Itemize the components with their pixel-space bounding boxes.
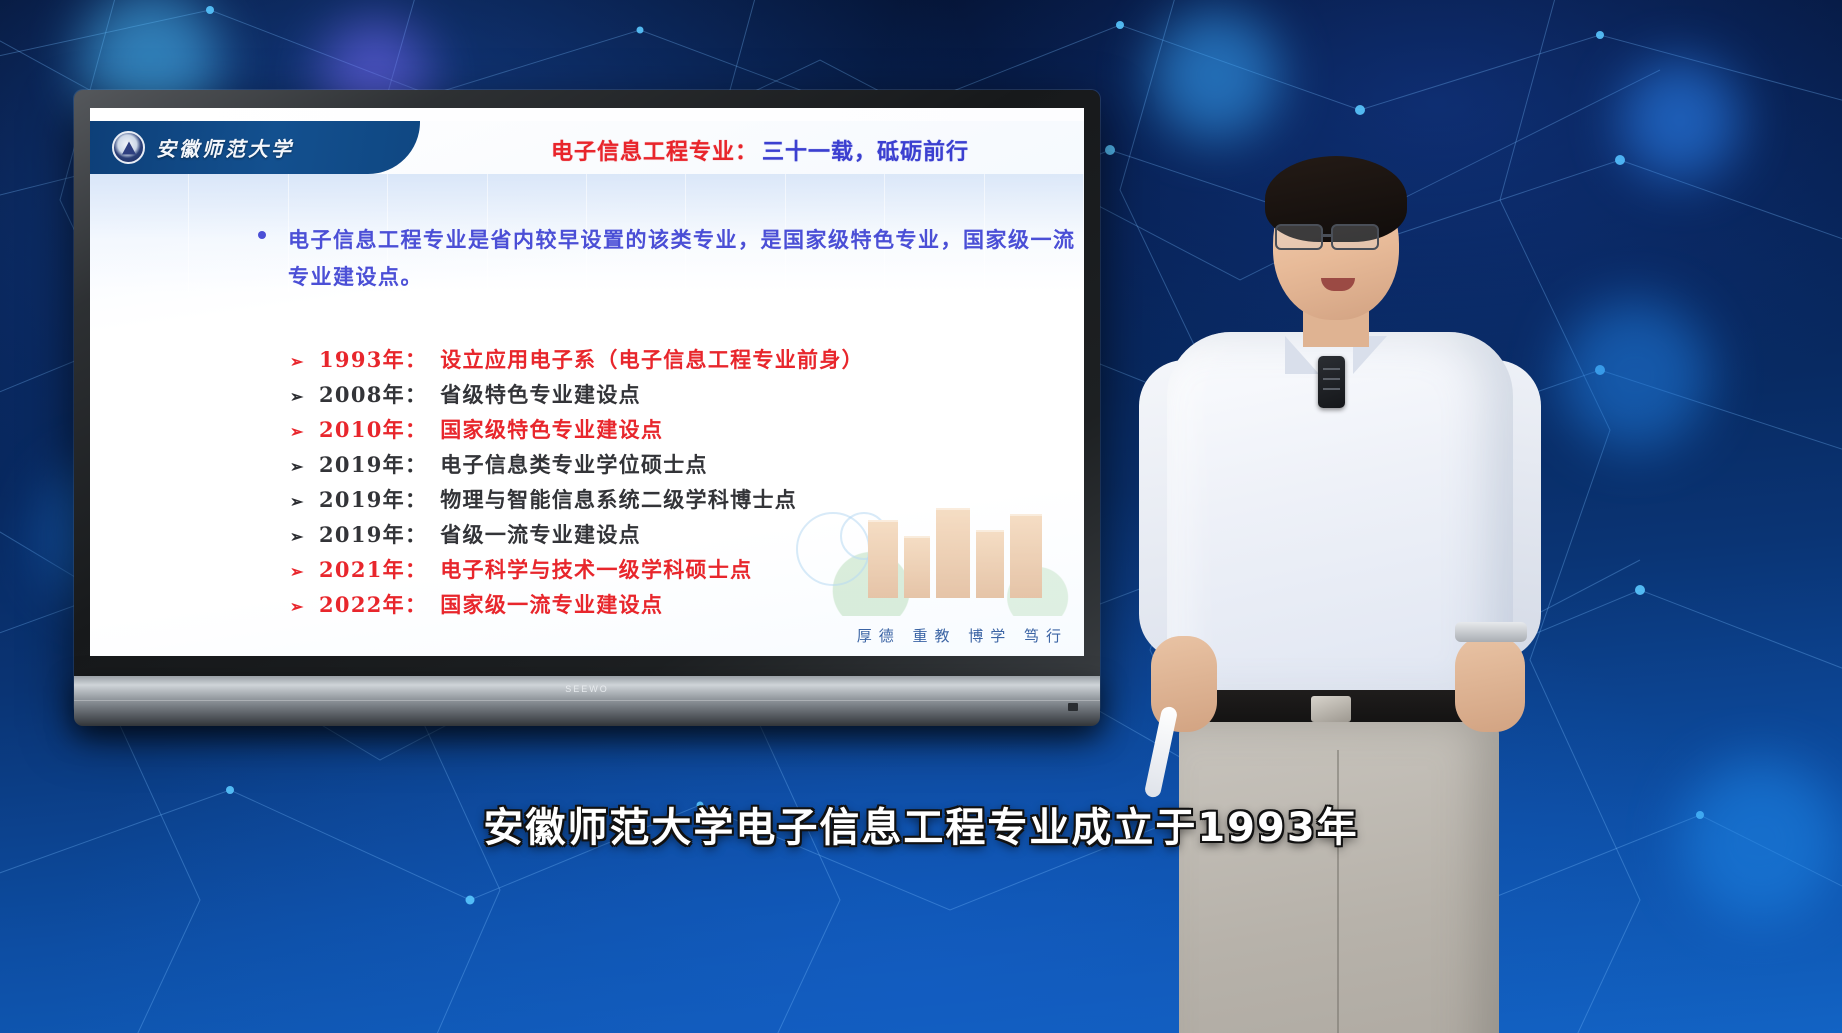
slide-title: 电子信息工程专业： 三十一载，砥砺前行 (430, 130, 1084, 170)
glasses-left-lens-icon (1275, 224, 1323, 250)
timeline-text: 国家级一流专业建设点 (440, 589, 663, 619)
glasses-right-lens-icon (1331, 224, 1379, 250)
slide-top-strip (90, 108, 1084, 121)
timeline-year: 2010年： (319, 414, 427, 444)
timeline-year: 2022年： (319, 589, 427, 619)
arrow-bullet-icon: ➢ (290, 389, 306, 405)
timeline-text: 省级一流专业建设点 (440, 519, 641, 549)
timeline-text: 国家级特色专业建设点 (440, 414, 663, 444)
arrow-bullet-icon: ➢ (290, 599, 306, 615)
lapel-microphone-icon (1318, 356, 1345, 408)
campus-illustration (814, 500, 1074, 616)
lead-paragraph-block: 电子信息工程专业是省内较早设置的该类专业，是国家级特色专业，国家级一流专业建设点… (288, 222, 1078, 296)
timeline-year: 1993年： (319, 344, 427, 374)
interactive-display[interactable]: 安徽师范大学 电子信息工程专业： 三十一载，砥砺前行 电子信息工程专业是省内较早… (74, 90, 1100, 715)
university-name: 安徽师范大学 (156, 133, 294, 162)
slide-screen[interactable]: 安徽师范大学 电子信息工程专业： 三十一载，砥砺前行 电子信息工程专业是省内较早… (90, 108, 1084, 656)
arrow-bullet-icon: ➢ (290, 494, 306, 510)
slide-body: 电子信息工程专业是省内较早设置的该类专业，是国家级特色专业，国家级一流专业建设点… (90, 174, 1084, 656)
presenter-right-hand (1455, 636, 1525, 732)
timeline-text: 设立应用电子系（电子信息工程专业前身） (440, 344, 864, 374)
video-stage: 安徽师范大学 电子信息工程专业： 三十一载，砥砺前行 电子信息工程专业是省内较早… (0, 0, 1842, 1033)
slide-title-red: 电子信息工程专业： (551, 134, 758, 166)
wristwatch-icon (1455, 622, 1527, 642)
bokeh-glow (1680, 760, 1840, 920)
timeline-year: 2019年： (319, 519, 427, 549)
display-port-icon (1068, 703, 1078, 711)
university-motto: 厚德 重教 博学 笃行 (857, 625, 1068, 646)
bullet-dot-icon (258, 231, 266, 239)
bezel-seam (74, 700, 1100, 701)
stylus-pen-icon (1144, 705, 1179, 798)
arrow-bullet-icon: ➢ (290, 529, 306, 545)
timeline-row: ➢2010年：国家级特色专业建设点 (290, 414, 1084, 449)
timeline-text: 电子信息类专业学位硕士点 (440, 449, 708, 479)
university-seal-icon (112, 131, 145, 164)
arrow-bullet-icon: ➢ (290, 424, 306, 440)
timeline-year: 2021年： (319, 554, 427, 584)
display-bottom-bezel: SEEWO (74, 676, 1100, 726)
bokeh-glow (1620, 60, 1740, 180)
timeline-row: ➢2008年：省级特色专业建设点 (290, 379, 1084, 414)
display-brand-label: SEEWO (565, 684, 609, 694)
timeline-text: 物理与智能信息系统二级学科博士点 (440, 484, 797, 514)
presenter (1125, 150, 1545, 1033)
arrow-bullet-icon: ➢ (290, 354, 306, 370)
arrow-bullet-icon: ➢ (290, 564, 306, 580)
trouser-seam (1337, 750, 1339, 1033)
bokeh-glow (1560, 300, 1710, 450)
timeline-year: 2019年： (319, 484, 427, 514)
lead-paragraph-text: 电子信息工程专业是省内较早设置的该类专业，是国家级特色专业，国家级一流专业建设点… (288, 227, 1076, 289)
university-logo-banner: 安徽师范大学 (90, 121, 420, 174)
bokeh-glow (1150, 10, 1280, 140)
timeline-text: 电子科学与技术一级学科硕士点 (440, 554, 752, 584)
glasses-bridge-icon (1323, 234, 1333, 237)
timeline-row: ➢2019年：电子信息类专业学位硕士点 (290, 449, 1084, 484)
timeline-year: 2008年： (319, 379, 427, 409)
timeline-row: ➢1993年：设立应用电子系（电子信息工程专业前身） (290, 344, 1084, 379)
timeline-year: 2019年： (319, 449, 427, 479)
timeline-text: 省级特色专业建设点 (440, 379, 641, 409)
arrow-bullet-icon: ➢ (290, 459, 306, 475)
presenter-trousers (1179, 722, 1499, 1033)
slide-title-blue: 三十一载，砥砺前行 (762, 134, 969, 166)
belt-buckle-icon (1311, 696, 1351, 722)
